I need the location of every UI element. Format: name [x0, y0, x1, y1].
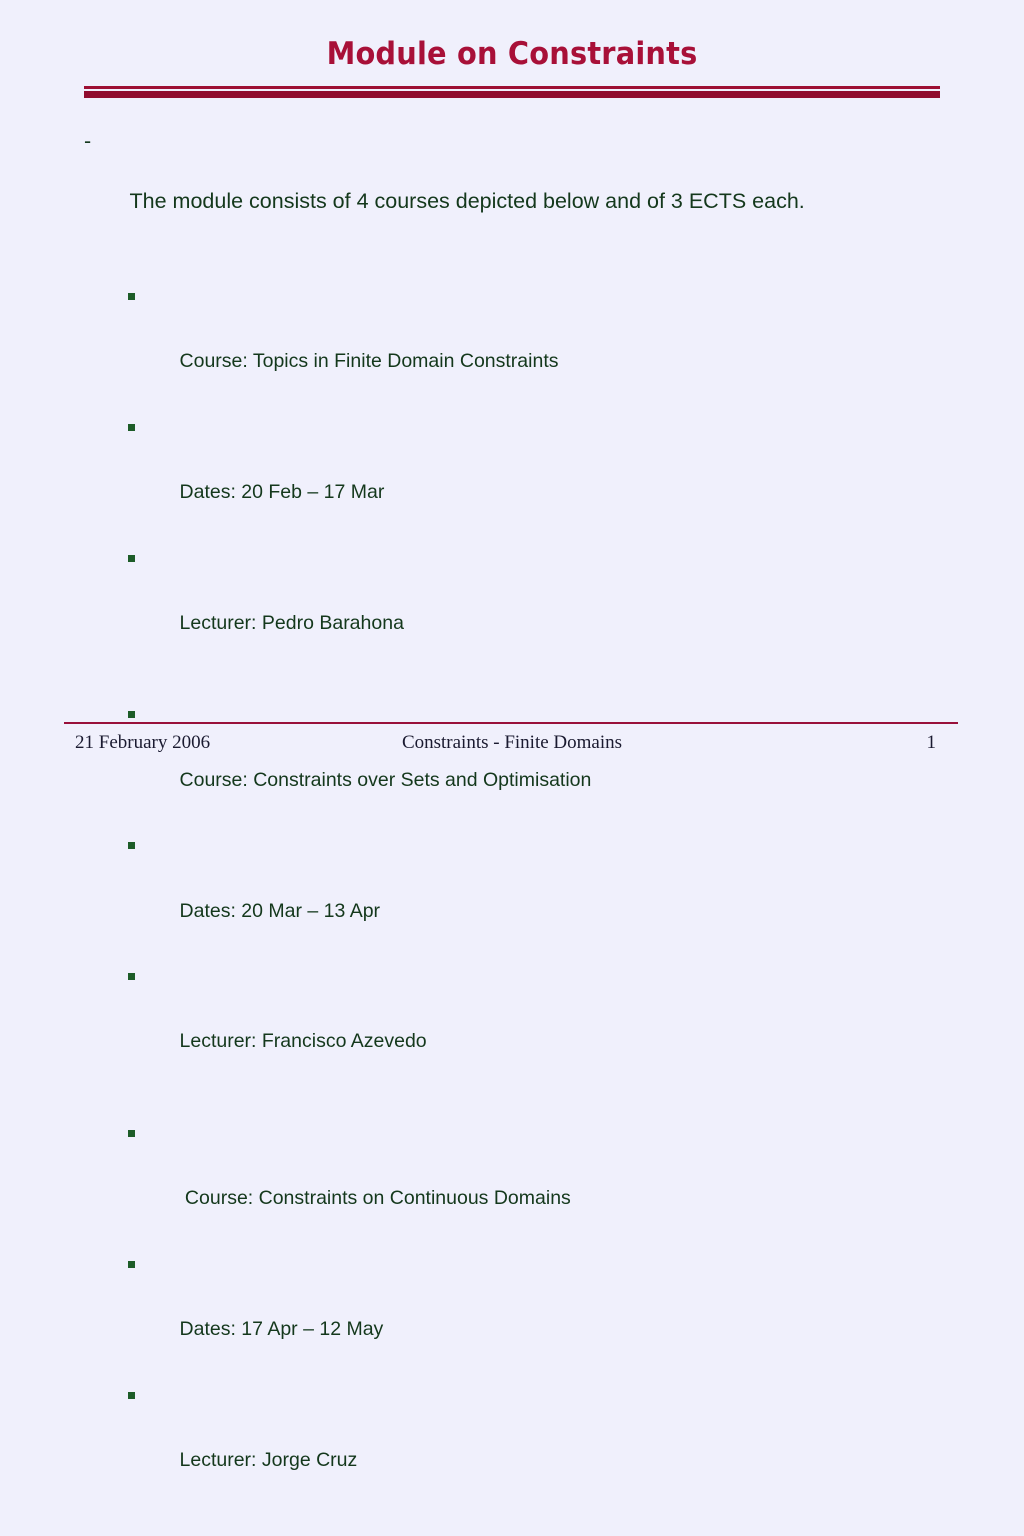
square-bullet-icon [128, 1130, 135, 1137]
course-lecturer-label: Lecturer: Francisco Azevedo [180, 1030, 427, 1052]
square-bullet-icon [128, 973, 135, 980]
list-item: Dates: 17 Apr – 12 May [128, 1248, 1024, 1379]
course-dates-label: Dates: 17 Apr – 12 May [180, 1318, 384, 1340]
course-name-label: Course: Constraints over Sets and Optimi… [180, 769, 592, 791]
bullet-dash-icon: - [84, 126, 91, 156]
title-divider-thick-line [84, 91, 940, 98]
course-dates-label: Dates: 20 Feb – 17 Mar [180, 481, 385, 503]
square-bullet-icon [128, 424, 135, 431]
square-bullet-icon [128, 711, 135, 718]
square-bullet-icon [128, 842, 135, 849]
list-item: Dates: 20 Mar – 13 Apr [128, 829, 1024, 960]
course-lecturer-label: Lecturer: Jorge Cruz [180, 1449, 358, 1471]
course-name-label: Course: Topics in Finite Domain Constrai… [180, 350, 559, 372]
course-group: Course: Fuzzy Constraints Dates: 15 May … [0, 1535, 1024, 1536]
list-item: Course: Topics in Finite Domain Constrai… [128, 280, 1024, 411]
square-bullet-icon [128, 1392, 135, 1399]
square-bullet-icon [128, 293, 135, 300]
list-item: Course: Fuzzy Constraints [128, 1535, 1024, 1536]
slide-body: - The module consists of 4 courses depic… [0, 126, 1024, 1536]
footer: 21 February 2006 Constraints - Finite Do… [0, 730, 1024, 760]
course-dates-label: Dates: 20 Mar – 13 Apr [180, 900, 381, 922]
square-bullet-icon [128, 1261, 135, 1268]
course-name-label: Course: Constraints on Continuous Domain… [180, 1187, 571, 1209]
course-lecturer-label: Lecturer: Pedro Barahona [180, 612, 404, 634]
list-item: Lecturer: Francisco Azevedo [128, 960, 1024, 1091]
title-divider [84, 86, 940, 98]
course-group: Course: Constraints on Continuous Domain… [0, 1117, 1024, 1509]
list-item: Lecturer: Pedro Barahona [128, 542, 1024, 673]
list-item: Course: Constraints on Continuous Domain… [128, 1117, 1024, 1248]
square-bullet-icon [128, 555, 135, 562]
course-group: Course: Topics in Finite Domain Constrai… [0, 280, 1024, 672]
list-item: Dates: 20 Feb – 17 Mar [128, 411, 1024, 542]
page-number: 1 [0, 732, 936, 754]
list-item: Course: Constraints over Sets and Optimi… [128, 698, 1024, 829]
page-title: Module on Constraints [36, 36, 988, 72]
intro-bullet: - The module consists of 4 courses depic… [84, 126, 1024, 246]
list-item: Lecturer: Jorge Cruz [128, 1379, 1024, 1510]
footer-divider [64, 722, 958, 724]
intro-bullet-label: The module consists of 4 courses depicte… [130, 189, 805, 213]
